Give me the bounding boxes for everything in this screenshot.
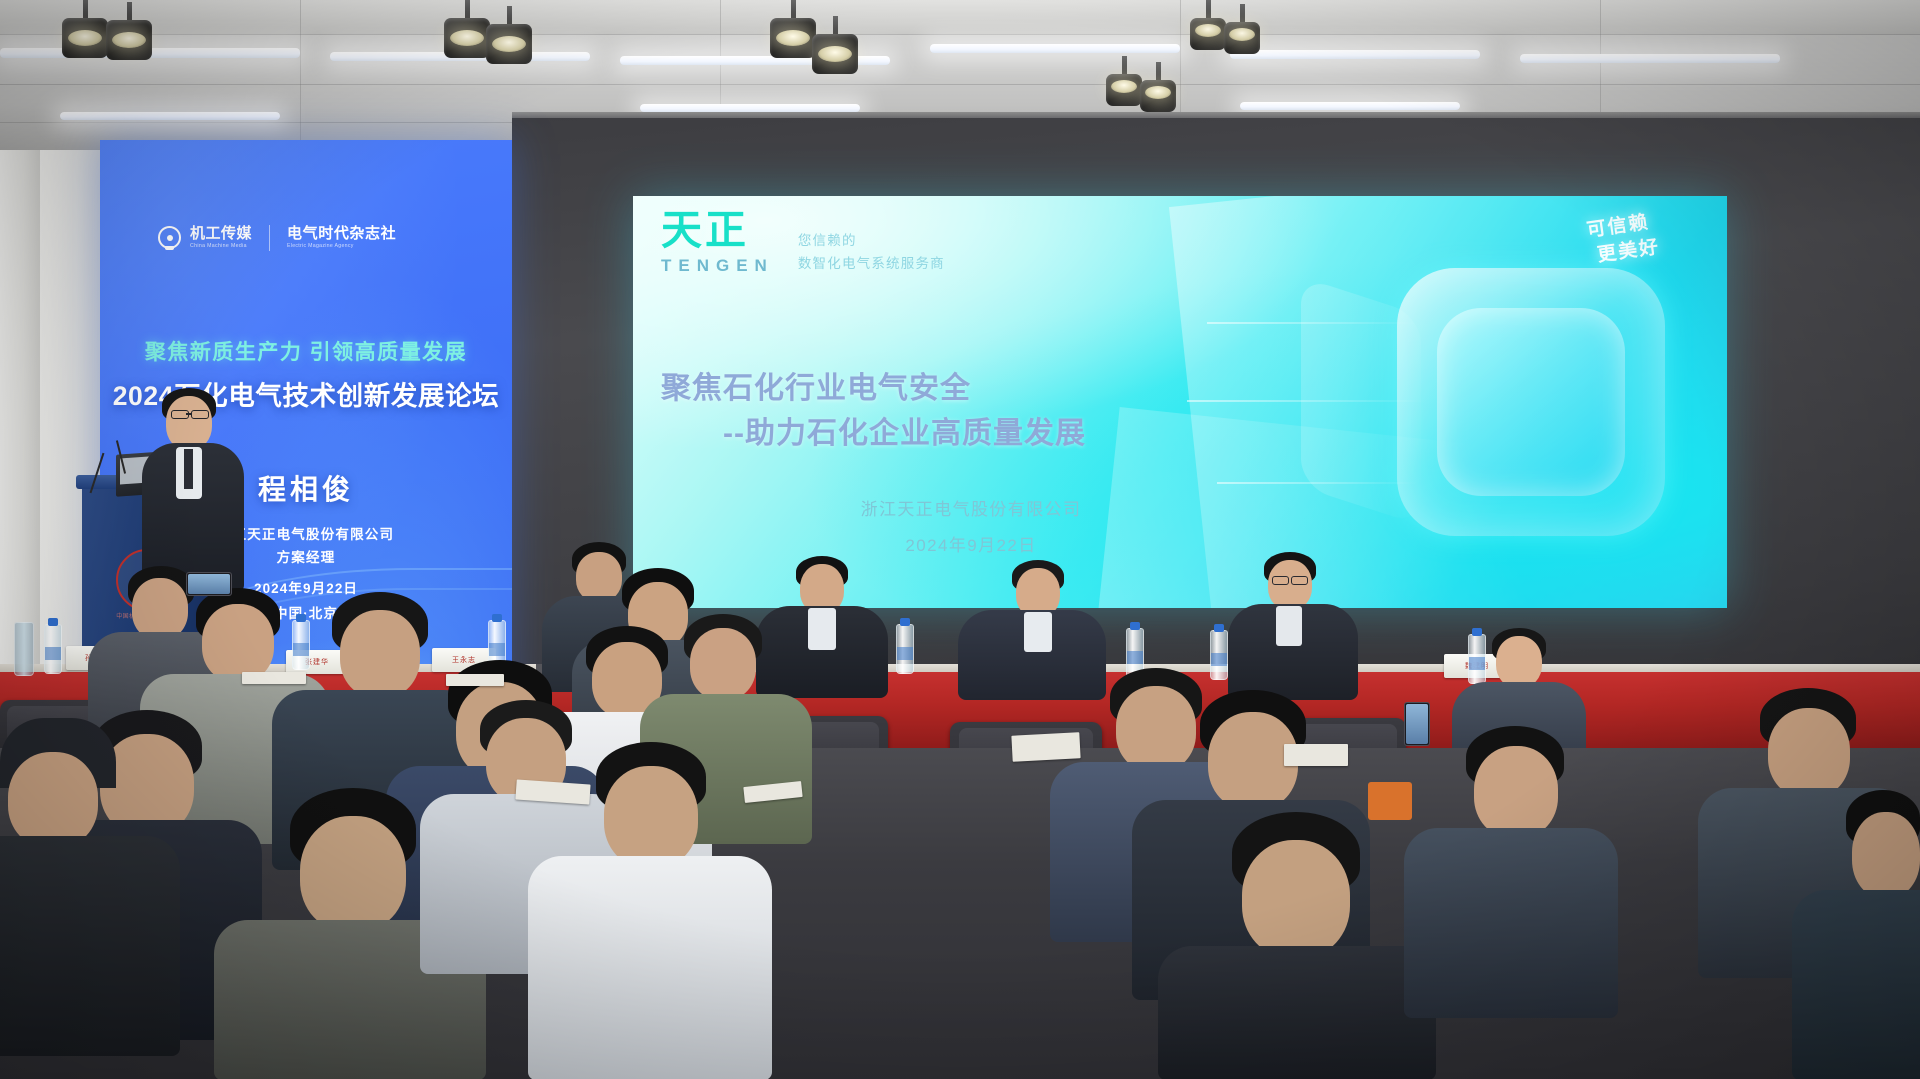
presentation-title-line1: 聚焦石化行业电气安全 — [661, 372, 971, 405]
document-paper — [1011, 732, 1080, 762]
ceiling-light-tube — [1240, 102, 1460, 110]
water-bottle — [1210, 630, 1228, 680]
smartphone — [1404, 702, 1430, 746]
tengen-brand-cn: 天正 — [661, 210, 774, 251]
ceiling-panel — [0, 0, 1920, 34]
presentation-date: 2024年9月22日 — [661, 528, 1281, 564]
tengen-slogan-line2: 数智化电气系统服务商 — [798, 252, 945, 276]
orange-bag — [1368, 782, 1412, 820]
presenter-company: 浙江天正电气股份有限公司 — [661, 492, 1281, 528]
tengen-slogan: 您信赖的 数智化电气系统服务商 — [798, 229, 945, 276]
machine-media-mark-icon — [158, 226, 181, 250]
water-bottle — [44, 624, 62, 674]
conference-photo-scene: 机工传媒 China Machine Media 电气时代杂志社 Electri… — [0, 0, 1920, 1079]
tengen-brand-en: TENGEN — [661, 256, 774, 276]
ceiling-light-tube — [1520, 54, 1780, 63]
ceiling-seam — [0, 34, 1920, 35]
ceiling-seam — [300, 0, 301, 150]
organizer-primary-cn: 机工传媒 — [190, 226, 252, 242]
thermos — [14, 622, 34, 676]
ceiling-light-tube — [640, 104, 860, 112]
document-paper — [1284, 744, 1348, 766]
forum-tagline: 聚焦新质生产力 引领高质量发展 — [100, 336, 512, 366]
organizer-primary-en: China Machine Media — [190, 244, 252, 250]
smartphone — [186, 572, 232, 596]
presentation-footer: 浙江天正电气股份有限公司 2024年9月22日 — [661, 492, 1281, 563]
tengen-logo: 天正 TENGEN 您信赖的 数智化电气系统服务商 — [661, 210, 945, 276]
ceiling-light-tube — [930, 44, 1180, 53]
document-paper — [446, 674, 504, 686]
organizer-secondary-en: Electric Magazine Agency — [287, 244, 396, 250]
water-bottle — [1468, 634, 1486, 684]
organizer-logo: 机工传媒 China Machine Media 电气时代杂志社 Electri… — [158, 225, 396, 251]
presentation-title: 聚焦石化行业电气安全 --助力石化企业高质量发展 — [661, 366, 1321, 456]
presentation-title-line2: --助力石化企业高质量发展 — [661, 411, 1321, 456]
ceiling-light-tube — [1230, 50, 1480, 59]
water-bottle — [292, 620, 310, 670]
right-projection-screen: 天正 TENGEN 您信赖的 数智化电气系统服务商 聚焦石化行业电气安全 --助… — [633, 196, 1727, 608]
logo-divider — [269, 225, 270, 251]
ceiling-seam — [0, 84, 1920, 85]
water-bottle — [896, 624, 914, 674]
document-paper — [242, 672, 306, 684]
tengen-slogan-line1: 您信赖的 — [798, 229, 945, 253]
abstract-cube-graphic — [1397, 268, 1665, 536]
organizer-secondary-cn: 电气时代杂志社 — [287, 226, 396, 242]
ceiling-light-tube — [60, 112, 280, 120]
